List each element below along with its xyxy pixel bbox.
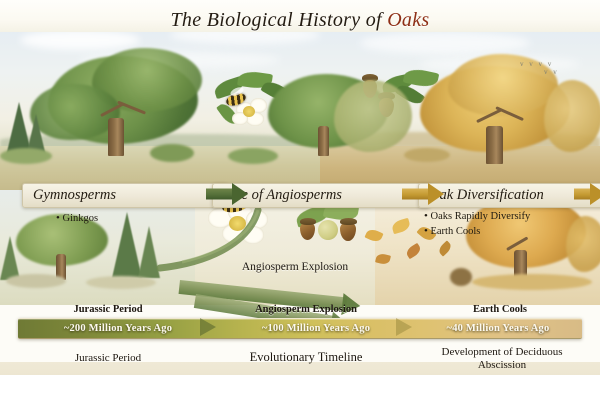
acorn-cap	[300, 218, 316, 225]
acorn-cap	[340, 218, 357, 225]
shrub	[0, 148, 52, 164]
shrub	[150, 144, 194, 162]
bullet-dot: •	[56, 212, 60, 224]
stump	[450, 268, 472, 286]
bullet-text: Earth Cools	[430, 226, 480, 237]
stage-banner-oak-diversification[interactable]: Oak Diversification	[418, 183, 600, 208]
scene-caption-earth-cools: Earth Cools	[418, 304, 582, 315]
shrub	[404, 148, 450, 162]
top-scene: v v v v v v	[0, 22, 600, 190]
bottom-margin	[0, 375, 600, 400]
timeline-label-40mya: ~40 Million Years Ago	[447, 323, 550, 334]
bullet-text: Ginkgos	[62, 213, 98, 224]
oak-canopy-autumn	[544, 80, 600, 152]
shrub	[472, 274, 592, 290]
stage-bullets-oak-diversification: • Oaks Rapidly Diversify • Earth Cools	[424, 209, 530, 239]
timeline-segment-100mya[interactable]: ~100 Million Years Ago	[218, 319, 414, 338]
footer-caption-right-line2: Abscission	[478, 359, 526, 371]
green-arrow-gymnosperms-to-angiosperms	[206, 183, 248, 205]
timeline-chevron-icon	[396, 318, 412, 336]
footer-caption-center: Evolutionary Timeline	[206, 351, 406, 364]
infographic-poster: v v v v v v	[0, 0, 600, 400]
stage-label-gymnosperms: Gymnosperms	[33, 187, 116, 204]
page-title-accent: Oaks	[387, 9, 429, 31]
cloud	[20, 30, 140, 50]
conifer-tree	[0, 236, 20, 280]
birds-icon: v v v v	[520, 60, 553, 68]
timeline-segment-40mya[interactable]: ~40 Million Years Ago	[414, 319, 582, 338]
page-title: The Biological History of Oaks	[0, 9, 600, 32]
evolutionary-timeline-bar[interactable]: ~200 Million Years Ago ~100 Million Year…	[18, 318, 582, 339]
timeline-label-200mya: ~200 Million Years Ago	[64, 323, 172, 334]
gourd-fruit	[318, 220, 338, 240]
flower-center	[243, 106, 255, 117]
birds-icon: v v	[544, 68, 559, 76]
footer-caption-right-line1: Development of Deciduous	[442, 346, 563, 358]
gold-arrow-oaks-continue	[574, 183, 600, 205]
gold-arrow-angiosperms-to-oaks	[402, 183, 444, 205]
cloud	[360, 32, 530, 54]
scene-caption-angiosperm-explosion: Angiosperm Explosion	[212, 304, 400, 315]
mid-scene-angiosperm-label: Angiosperm Explosion	[205, 261, 385, 273]
bullet-text: Oaks Rapidly Diversify	[430, 211, 530, 222]
scene-caption-jurassic: Jurassic Period	[18, 304, 198, 315]
rock	[6, 274, 66, 288]
bullet-dot: •	[424, 225, 428, 237]
bullet-dot: •	[424, 210, 428, 222]
footer-caption-right: Development of Deciduous Abscission	[414, 346, 590, 372]
oak-canopy-autumn	[566, 216, 600, 272]
oak-trunk	[486, 126, 503, 164]
timeline-segment-200mya[interactable]: ~200 Million Years Ago	[18, 319, 218, 338]
stage-banner-gymnosperms[interactable]: Gymnosperms	[22, 183, 228, 208]
oak-trunk	[318, 126, 329, 156]
page-title-prefix: The Biological History of	[171, 9, 388, 31]
stage-label-oak-diversification: Oak Diversification	[429, 187, 544, 204]
shrub	[228, 148, 278, 164]
footer-caption-left: Jurassic Period	[18, 352, 198, 365]
oak-trunk	[108, 118, 124, 156]
timeline-chevron-icon	[200, 318, 216, 336]
stage-bullets-gymnosperms: • Ginkgos	[56, 211, 98, 226]
timeline-label-100mya: ~100 Million Years Ago	[262, 323, 370, 334]
rock	[86, 276, 156, 289]
